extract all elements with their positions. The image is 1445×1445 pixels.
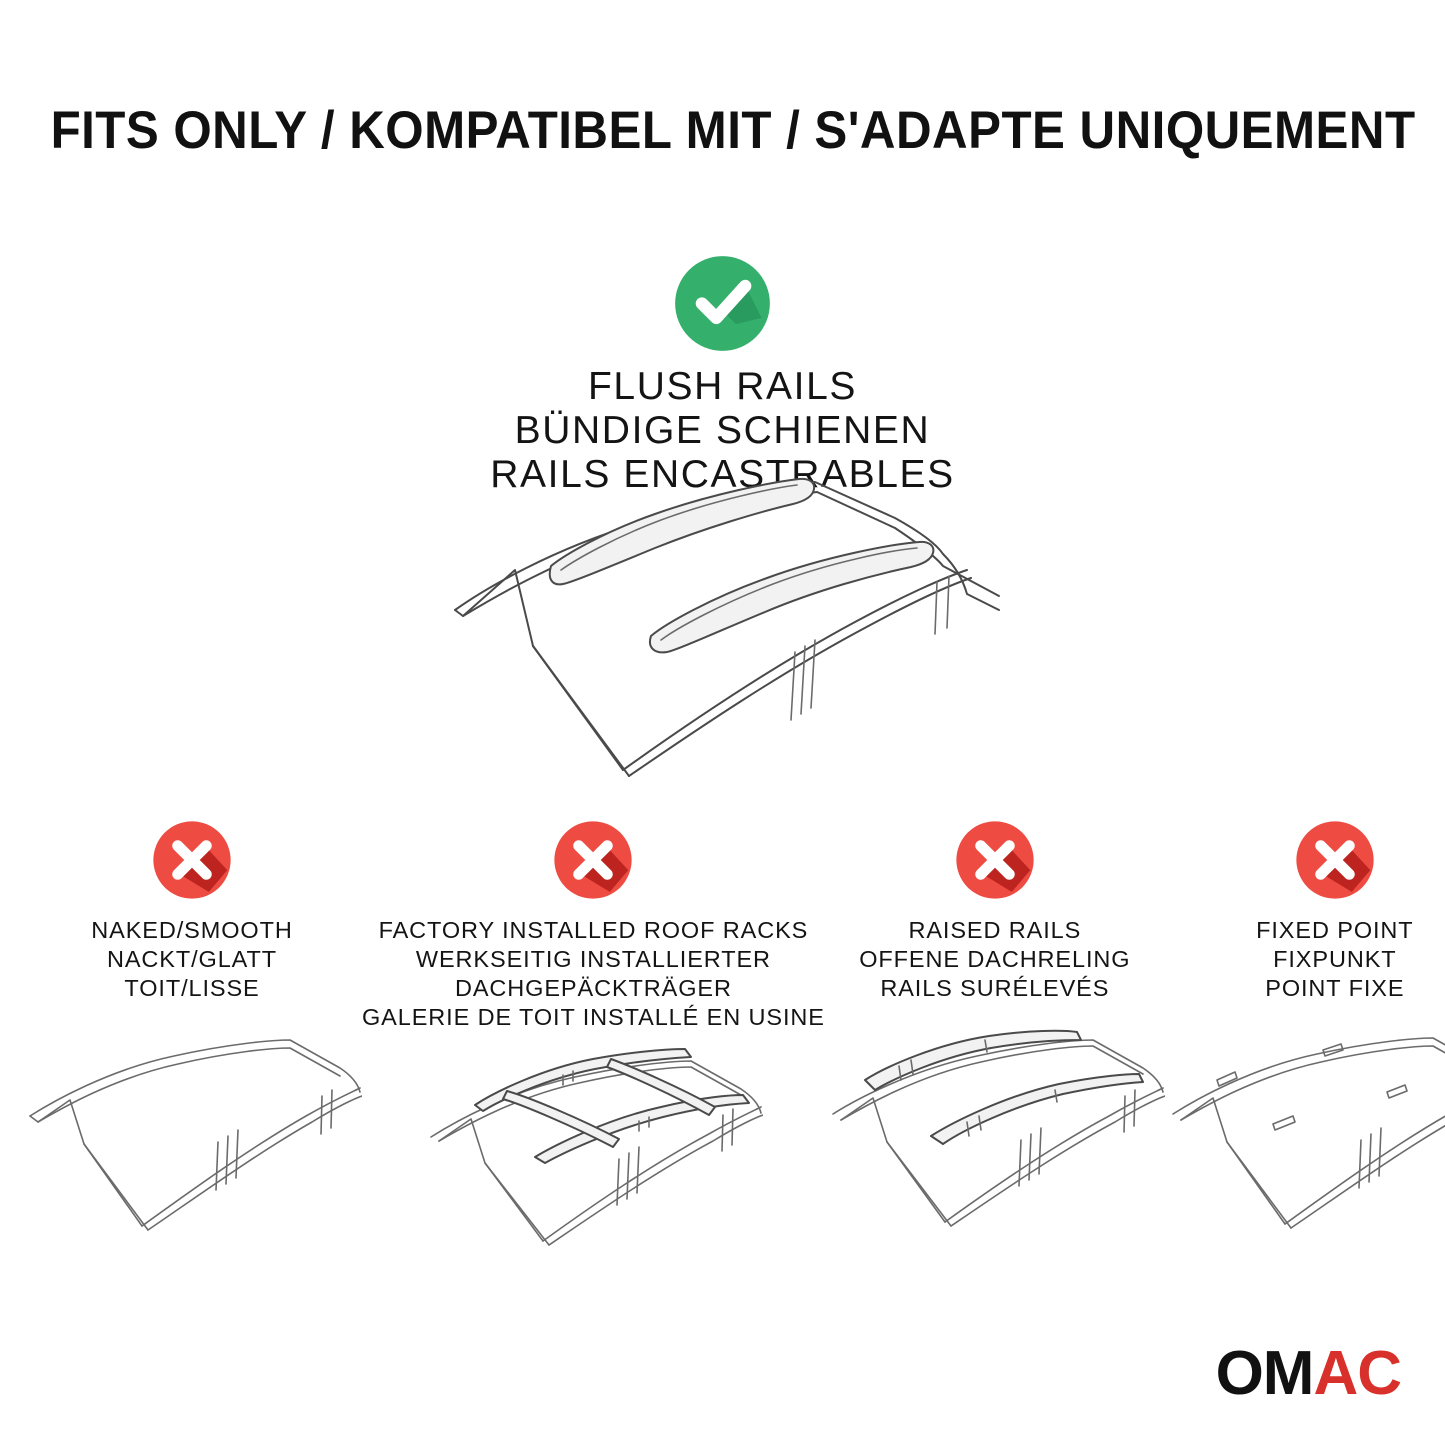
incompatible-label-en: RAISED RAILS	[859, 916, 1130, 945]
incompatible-label-de: OFFENE DACHRELING	[859, 945, 1130, 974]
omac-logo: OMAC	[1216, 1343, 1401, 1405]
incompatible-label-de-2: DACHGEPÄCKTRÄGER	[362, 974, 825, 1003]
incompatible-column-fixed-point: FIXED POINT FIXPUNKT POINT FIXE	[1165, 818, 1445, 1241]
compatible-label-de: BÜNDIGE SCHIENEN	[0, 409, 1445, 453]
incompatible-label-fr: RAILS SURÉLEVÉS	[859, 974, 1130, 1003]
x-circle-icon	[551, 818, 635, 902]
logo-text-red: AC	[1313, 1339, 1401, 1408]
compatible-label-en: FLUSH RAILS	[0, 365, 1445, 409]
x-circle-icon	[953, 818, 1037, 902]
incompatible-label-de-1: WERKSEITIG INSTALLIERTER	[362, 945, 825, 974]
incompatible-labels: RAISED RAILS OFFENE DACHRELING RAILS SUR…	[859, 916, 1130, 1012]
incompatible-column-naked: NAKED/SMOOTH NACKT/GLATT TOIT/LISSE	[22, 818, 362, 1243]
incompatible-label-de: FIXPUNKT	[1256, 945, 1413, 974]
incompatible-column-factory-racks: FACTORY INSTALLED ROOF RACKS WERKSEITIG …	[362, 818, 825, 1250]
x-circle-icon	[1293, 818, 1377, 902]
incompatible-label-de: NACKT/GLATT	[91, 945, 292, 974]
car-roof-naked-illustration	[22, 1038, 362, 1243]
x-circle-icon	[150, 818, 234, 902]
incompatible-label-fr: GALERIE DE TOIT INSTALLÉ EN USINE	[362, 1003, 825, 1032]
page-title: FITS ONLY / KOMPATIBEL MIT / S'ADAPTE UN…	[51, 104, 1395, 157]
incompatible-label-fr: POINT FIXE	[1256, 974, 1413, 1003]
incompatible-label-fr: TOIT/LISSE	[91, 974, 292, 1003]
car-roof-raised-rails-illustration	[825, 1028, 1165, 1233]
incompatible-labels: NAKED/SMOOTH NACKT/GLATT TOIT/LISSE	[91, 916, 292, 1012]
incompatible-label-en: FACTORY INSTALLED ROOF RACKS	[362, 916, 825, 945]
incompatible-labels: FIXED POINT FIXPUNKT POINT FIXE	[1256, 916, 1413, 1012]
car-roof-factory-racks-illustration	[423, 1045, 763, 1250]
logo-text-dark: OM	[1216, 1339, 1314, 1408]
car-roof-flush-rails-illustration	[443, 470, 1003, 790]
incompatible-label-en: FIXED POINT	[1256, 916, 1413, 945]
compatible-section: FLUSH RAILS BÜNDIGE SCHIENEN RAILS ENCAS…	[0, 252, 1445, 497]
incompatible-section: NAKED/SMOOTH NACKT/GLATT TOIT/LISSE FACT…	[0, 818, 1445, 1250]
incompatible-column-raised-rails: RAISED RAILS OFFENE DACHRELING RAILS SUR…	[825, 818, 1165, 1233]
check-circle-icon	[671, 252, 774, 355]
incompatible-label-en: NAKED/SMOOTH	[91, 916, 292, 945]
incompatible-labels: FACTORY INSTALLED ROOF RACKS WERKSEITIG …	[362, 916, 825, 1033]
car-roof-fixed-point-illustration	[1165, 1036, 1445, 1241]
